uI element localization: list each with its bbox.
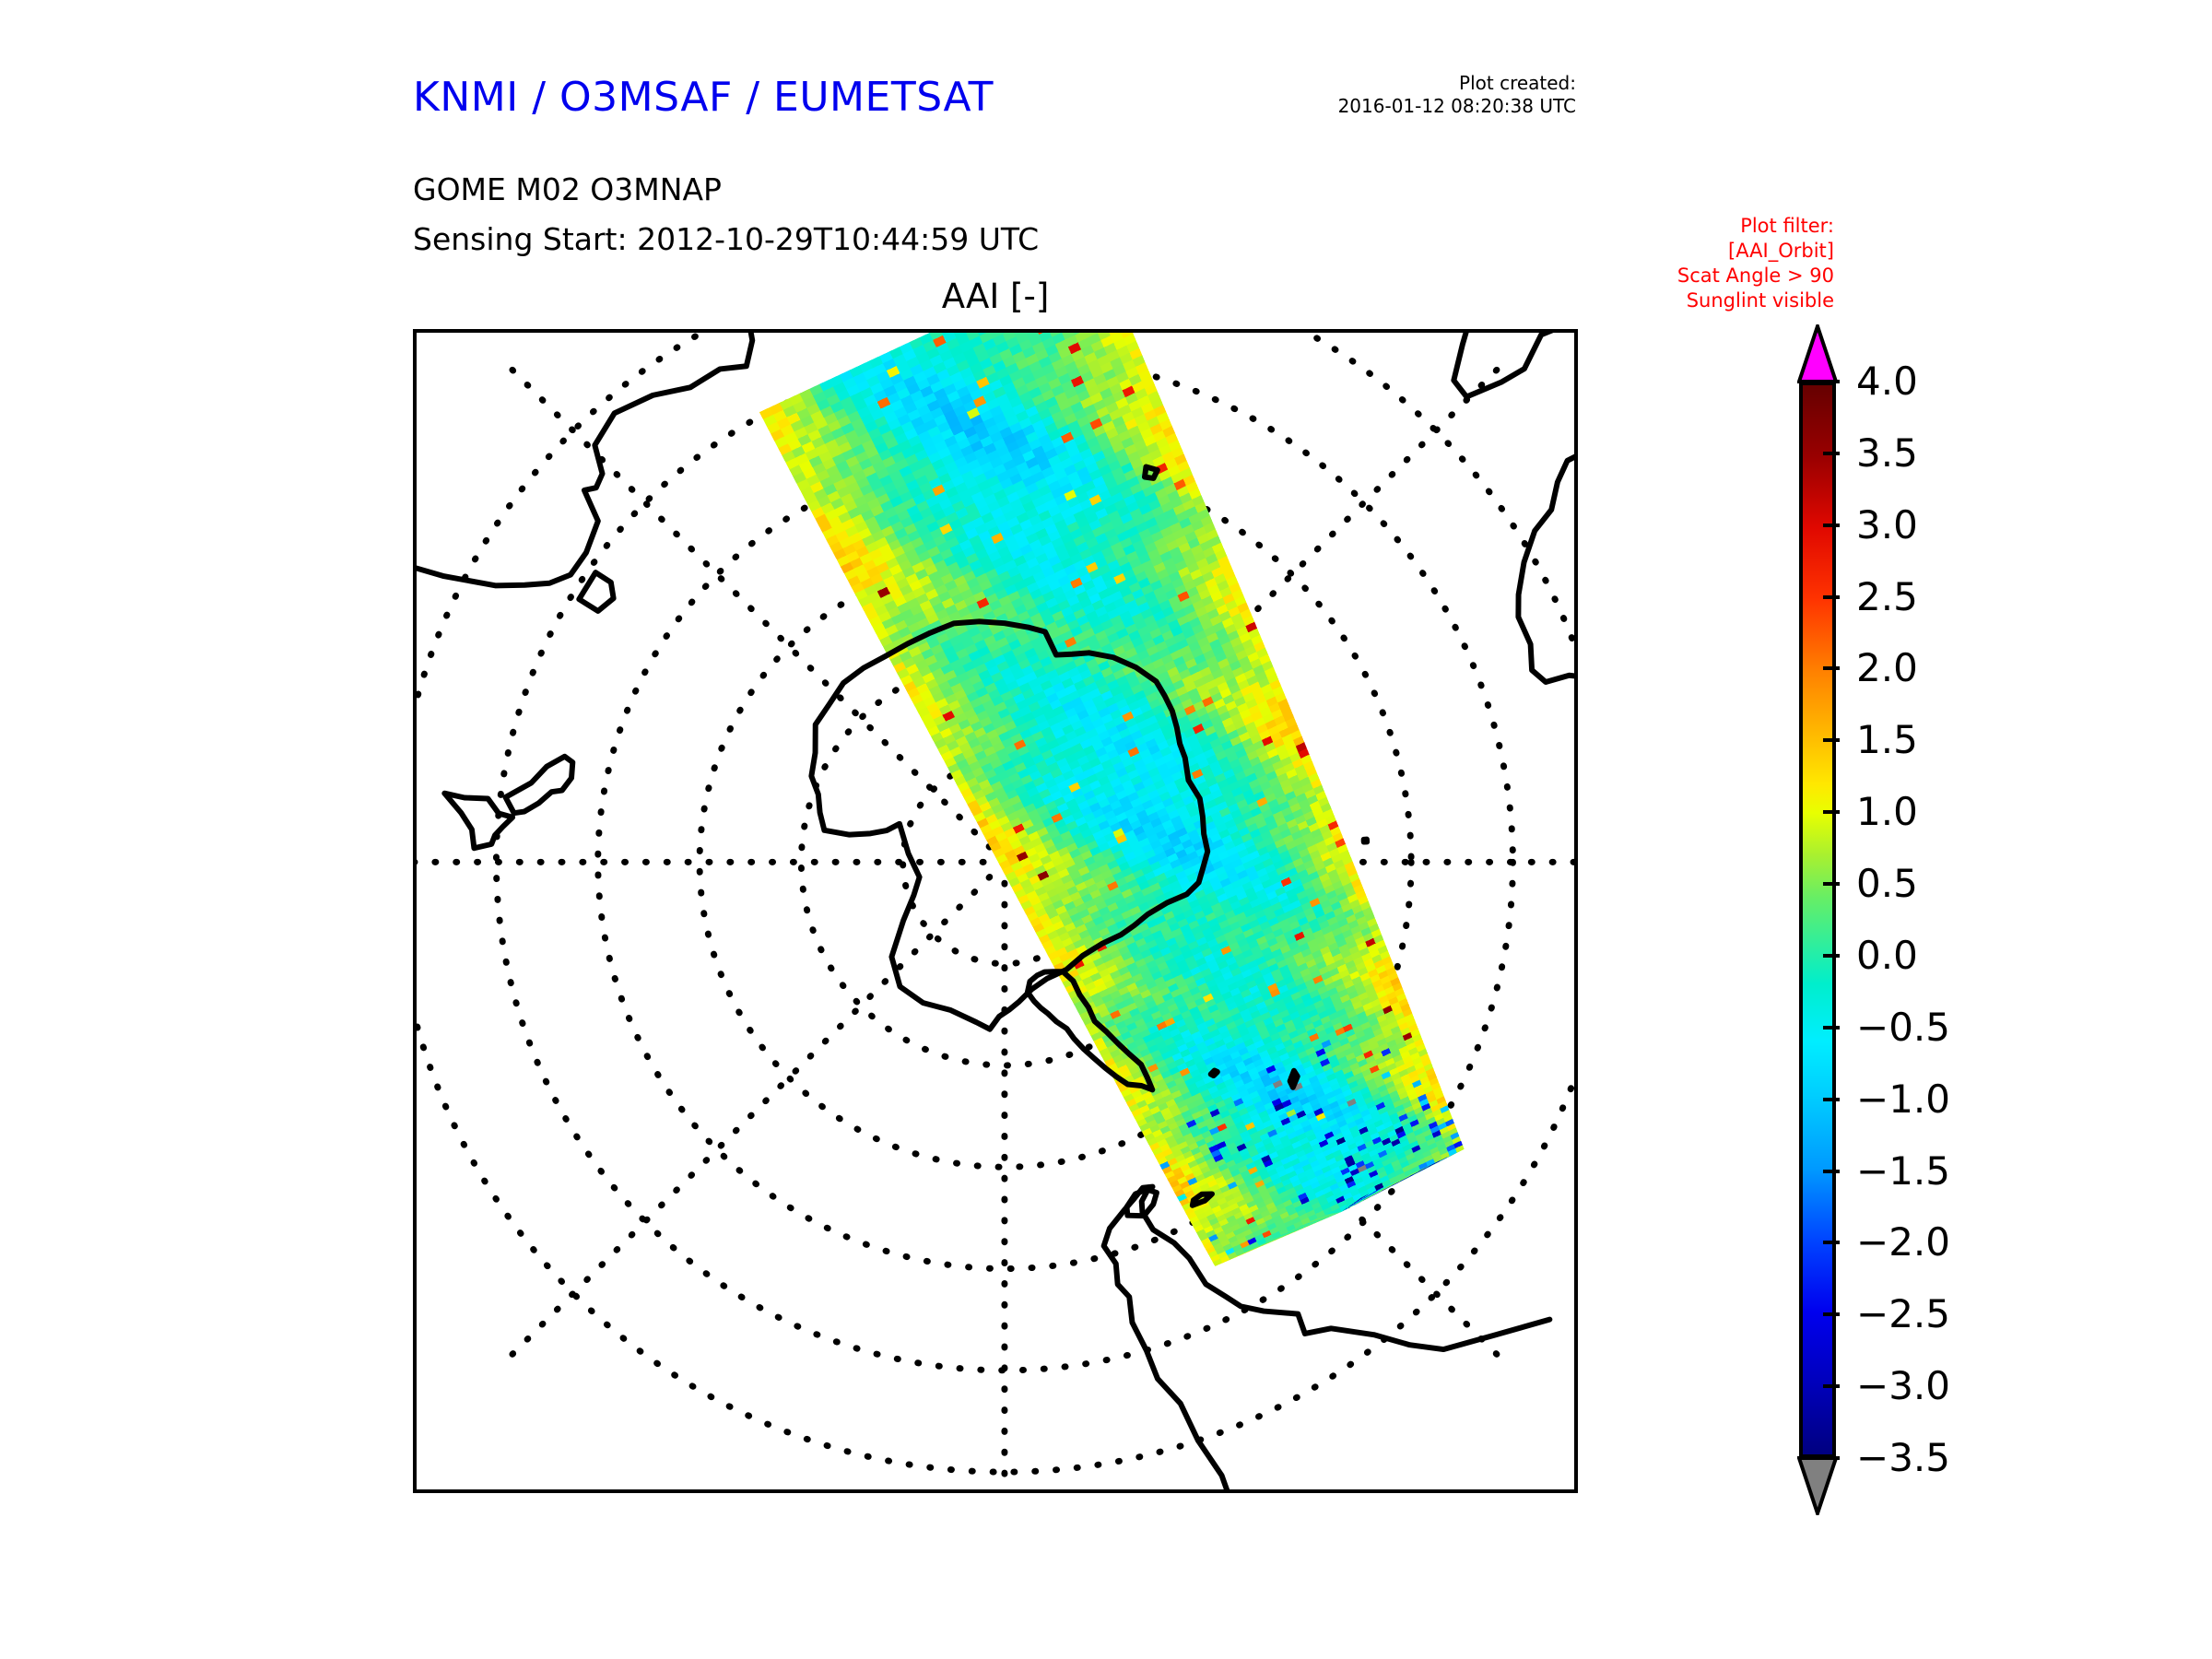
map-plot-area[interactable]: [413, 329, 1578, 1493]
colorbar-tick-label: 0.0: [1856, 936, 1918, 975]
axes-title: AAI [-]: [413, 276, 1578, 316]
colorbar-tick: [1823, 380, 1840, 383]
coastline-path: [444, 794, 512, 849]
colorbar[interactable]: 4.03.53.02.52.01.51.00.50.0−0.5−1.0−1.5−…: [1797, 324, 2184, 1523]
polar-stereographic-map: [417, 333, 1574, 1489]
colorbar-tick-label: 2.0: [1856, 649, 1918, 688]
coastline-path: [505, 757, 572, 813]
graticule-meridian: [501, 862, 1005, 1365]
instrument-line: GOME M02 O3MNAP: [413, 171, 722, 207]
coastline-path: [1364, 840, 1367, 842]
colorbar-tick-label: −1.5: [1856, 1152, 1950, 1191]
coastline-path: [417, 333, 752, 585]
colorbar-tick-label: 1.0: [1856, 793, 1918, 831]
colorbar-tick: [1823, 452, 1840, 455]
colorbar-tick-label: −3.0: [1856, 1367, 1950, 1406]
colorbar-tick: [1823, 524, 1840, 527]
colorbar-under-arrow: [1797, 1456, 1838, 1515]
coastline-path: [1290, 1071, 1298, 1088]
colorbar-tick: [1823, 1384, 1840, 1388]
plot-filter-sunglint: Sunglint visible: [1677, 288, 1834, 313]
colorbar-tick-label: −3.5: [1856, 1439, 1950, 1477]
colorbar-tick-label: 0.5: [1856, 865, 1918, 903]
plot-created-block: Plot created: 2016-01-12 08:20:38 UTC: [1338, 72, 1576, 118]
plot-filter-name: [AAI_Orbit]: [1677, 239, 1834, 264]
plot-created-label: Plot created:: [1338, 72, 1576, 95]
colorbar-tick: [1823, 595, 1840, 599]
colorbar-tick-label: −2.5: [1856, 1295, 1950, 1334]
page-title-organisation: KNMI / O3MSAF / EUMETSAT: [413, 74, 994, 121]
swath-pixels: [759, 333, 1465, 1266]
colorbar-tick: [1823, 1170, 1840, 1173]
colorbar-tick: [1823, 1026, 1840, 1030]
sensing-start-line: Sensing Start: 2012-10-29T10:44:59 UTC: [413, 221, 1039, 257]
plot-filter-scat: Scat Angle > 90: [1677, 264, 1834, 288]
colorbar-tick: [1823, 1098, 1840, 1101]
colorbar-tick-label: 4.0: [1856, 362, 1918, 401]
colorbar-tick: [1823, 810, 1840, 814]
colorbar-tick-label: −0.5: [1856, 1008, 1950, 1047]
plot-filter-block: Plot filter: [AAI_Orbit] Scat Angle > 90…: [1677, 214, 1834, 313]
colorbar-gradient-bar: [1799, 382, 1836, 1458]
colorbar-tick-label: −2.0: [1856, 1223, 1950, 1262]
colorbar-tick: [1823, 1312, 1840, 1316]
colorbar-tick-label: 2.5: [1856, 578, 1918, 617]
colorbar-tick: [1823, 954, 1840, 958]
coastline-path: [1453, 333, 1574, 397]
plot-created-value: 2016-01-12 08:20:38 UTC: [1338, 95, 1576, 118]
colorbar-tick-label: 3.0: [1856, 506, 1918, 545]
colorbar-tick-label: 3.5: [1856, 434, 1918, 473]
colorbar-tick: [1823, 666, 1840, 670]
plot-filter-label: Plot filter:: [1677, 214, 1834, 239]
colorbar-over-arrow: [1797, 324, 1838, 383]
colorbar-tick-label: −1.0: [1856, 1080, 1950, 1119]
colorbar-tick-label: 1.5: [1856, 721, 1918, 759]
colorbar-tick: [1823, 882, 1840, 886]
satellite-swath: [759, 333, 1465, 1266]
colorbar-tick: [1823, 1456, 1840, 1460]
colorbar-tick: [1823, 738, 1840, 742]
coastline-path: [1211, 1070, 1218, 1076]
colorbar-tick: [1823, 1241, 1840, 1244]
